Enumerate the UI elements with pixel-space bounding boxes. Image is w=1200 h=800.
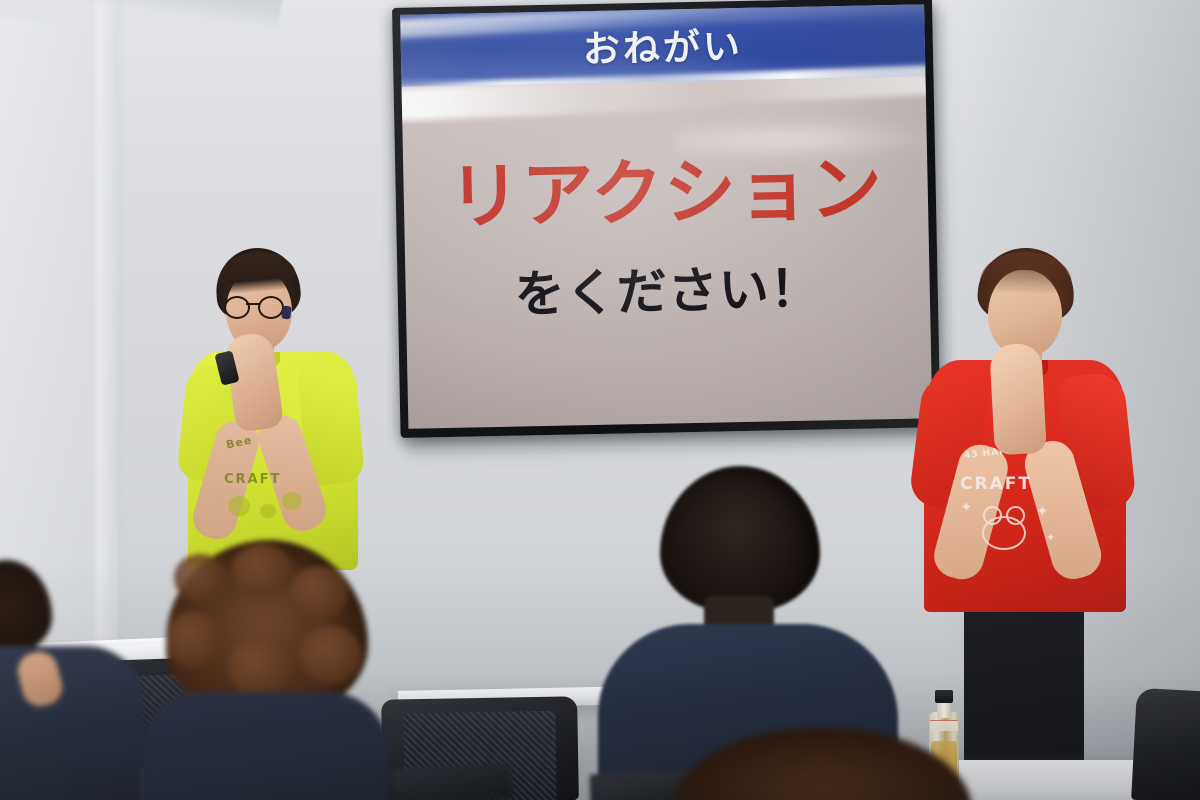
laptop-left[interactable] — [391, 763, 513, 800]
hair-curl — [174, 554, 226, 602]
slide-screen: おねがい リアクション をください！ — [400, 4, 932, 428]
display-bezel: おねがい リアクション をください！ — [392, 0, 941, 438]
audience-member-curly — [140, 540, 392, 800]
audience-hair — [672, 728, 972, 800]
hair-curl — [232, 544, 292, 596]
audience-hair — [660, 466, 820, 612]
presenter-right-hands — [989, 343, 1047, 456]
bottle-cap[interactable] — [935, 690, 953, 703]
hair-curl — [290, 566, 348, 620]
audience-torso — [140, 692, 390, 800]
wall-corner-highlight — [96, 0, 122, 640]
star-icon-1: ✦ — [960, 500, 973, 515]
star-icon-3: ✦ — [1046, 532, 1055, 543]
shirt-graphic-blob-1 — [228, 496, 250, 516]
presenter-right-fringe — [980, 251, 1073, 295]
glasses-bridge — [246, 303, 260, 305]
mouse-silhouette-icon — [982, 516, 1026, 550]
presenter-left-shirt-graphic: Bee CRAFT — [220, 430, 316, 534]
office-chair-right[interactable] — [1131, 688, 1200, 800]
wall-mounted-display[interactable]: おねがい リアクション をください！ — [392, 0, 941, 438]
hair-curl — [228, 636, 292, 698]
shirt-graphic-line-0: CRAFT — [960, 474, 1032, 494]
audience-hair — [0, 560, 52, 652]
shirt-graphic-line-1: Bee — [225, 433, 253, 451]
photo-scene: おねがい リアクション をください！ Bee CRAFT — [0, 0, 1200, 800]
star-icon-2: ✦ — [1036, 504, 1049, 519]
screen-sheen — [400, 4, 932, 428]
shirt-graphic-blob-3 — [282, 492, 302, 510]
shirt-graphic-blob-2 — [260, 504, 276, 518]
hair-curl — [166, 612, 220, 668]
earbud-icon — [281, 305, 292, 319]
audience-member-left — [0, 560, 136, 800]
hair-curl — [300, 626, 362, 684]
audience-member-front-right — [672, 728, 972, 800]
glasses-icon — [224, 296, 288, 315]
presenter-right-shirt-graphic: 43 HAPPY CRAFT ✦ ✦ ✦ — [958, 444, 1074, 562]
shirt-graphic-line-0: CRAFT — [224, 472, 281, 487]
